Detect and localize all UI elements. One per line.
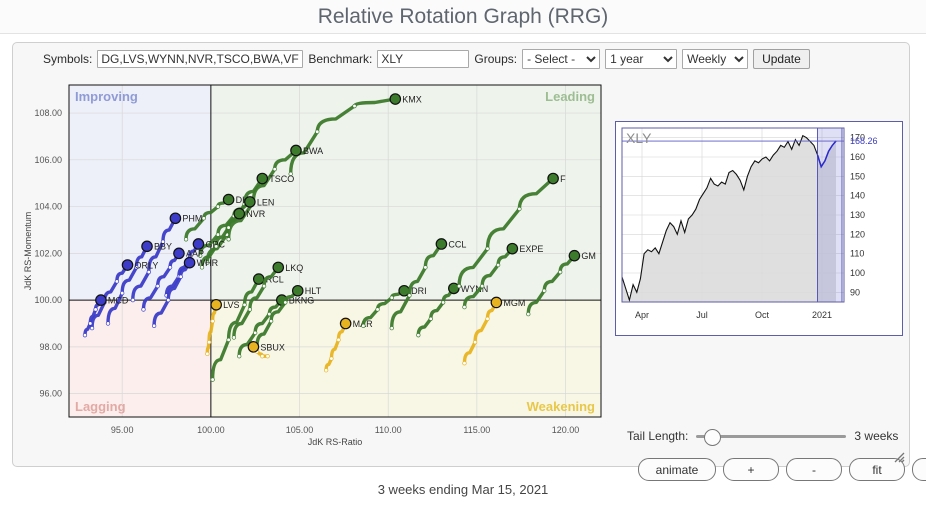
svg-text:Weakening: Weakening xyxy=(527,399,595,414)
action-buttons: animate + - fit ctr max xyxy=(638,458,926,481)
center-button[interactable]: ctr xyxy=(912,458,926,481)
svg-text:160: 160 xyxy=(850,152,865,162)
svg-text:130: 130 xyxy=(850,210,865,220)
update-button[interactable]: Update xyxy=(753,49,810,69)
svg-text:ORLY: ORLY xyxy=(135,260,159,270)
svg-text:F: F xyxy=(560,174,566,184)
svg-text:KMX: KMX xyxy=(402,94,422,104)
svg-text:168.26: 168.26 xyxy=(850,136,878,146)
svg-text:Oct: Oct xyxy=(755,310,770,320)
svg-text:Lagging: Lagging xyxy=(75,399,126,414)
svg-text:115.00: 115.00 xyxy=(463,425,490,435)
tail-length-value: 3 weeks xyxy=(854,429,898,443)
zoom-in-button[interactable]: + xyxy=(723,458,779,481)
svg-text:PHM: PHM xyxy=(182,214,202,224)
svg-text:XLY: XLY xyxy=(626,130,652,146)
svg-text:96.00: 96.00 xyxy=(39,389,62,399)
svg-text:Jul: Jul xyxy=(696,310,708,320)
svg-text:JdK RS-Ratio: JdK RS-Ratio xyxy=(308,437,363,447)
rrg-app: Relative Rotation Graph (RRG) Symbols: B… xyxy=(0,0,926,505)
svg-text:140: 140 xyxy=(850,191,865,201)
svg-text:LEN: LEN xyxy=(257,197,275,207)
resize-handle-icon[interactable] xyxy=(891,449,905,463)
svg-text:BBY: BBY xyxy=(154,242,172,252)
rrg-svg: ImprovingLeadingLaggingWeakening96.0098.… xyxy=(17,77,605,463)
footer-caption: 3 weeks ending Mar 15, 2021 xyxy=(0,482,926,497)
rrg-plot[interactable]: ImprovingLeadingLaggingWeakening96.0098.… xyxy=(17,77,605,463)
tail-length-label: Tail Length: xyxy=(627,429,688,443)
svg-text:110: 110 xyxy=(850,249,864,259)
benchmark-chart[interactable]: 17016015014013012011010090AprJulOct20211… xyxy=(615,121,903,336)
svg-text:EXPE: EXPE xyxy=(519,244,543,254)
groups-label: Groups: xyxy=(474,52,517,66)
tail-length-control: Tail Length: 3 weeks xyxy=(627,426,926,446)
svg-text:108.00: 108.00 xyxy=(34,108,62,118)
svg-text:MCD: MCD xyxy=(108,295,129,305)
groups-select[interactable]: - Select - xyxy=(522,49,600,69)
svg-text:102.00: 102.00 xyxy=(34,248,62,258)
svg-text:90: 90 xyxy=(850,287,860,297)
svg-text:MGM: MGM xyxy=(503,298,525,308)
svg-text:WHR: WHR xyxy=(197,258,219,268)
svg-text:BWA: BWA xyxy=(303,146,323,156)
animate-button[interactable]: animate xyxy=(638,458,716,481)
svg-text:98.00: 98.00 xyxy=(39,342,62,352)
tail-length-slider[interactable] xyxy=(696,429,846,443)
svg-text:95.00: 95.00 xyxy=(111,425,134,435)
svg-text:104.00: 104.00 xyxy=(34,202,62,212)
frequency-select[interactable]: Weekly xyxy=(682,49,748,69)
svg-text:100.00: 100.00 xyxy=(34,295,62,305)
svg-text:LKQ: LKQ xyxy=(285,263,303,273)
svg-text:NVR: NVR xyxy=(246,209,266,219)
svg-text:110.00: 110.00 xyxy=(375,425,402,435)
svg-text:GPC: GPC xyxy=(205,239,225,249)
symbols-label: Symbols: xyxy=(43,52,92,66)
svg-text:Apr: Apr xyxy=(635,310,649,320)
zoom-out-button[interactable]: - xyxy=(786,458,842,481)
svg-text:LVS: LVS xyxy=(223,300,239,310)
svg-text:SBUX: SBUX xyxy=(260,342,285,352)
benchmark-chart-svg: 17016015014013012011010090AprJulOct20211… xyxy=(616,122,902,335)
svg-text:106.00: 106.00 xyxy=(34,155,62,165)
svg-text:GM: GM xyxy=(581,251,596,261)
svg-text:100: 100 xyxy=(850,268,865,278)
benchmark-input[interactable] xyxy=(377,50,469,68)
svg-text:Improving: Improving xyxy=(75,89,138,104)
page-title: Relative Rotation Graph (RRG) xyxy=(0,0,926,34)
rrg-panel: Symbols: Benchmark: Groups: - Select - 1… xyxy=(12,42,910,467)
svg-text:DRI: DRI xyxy=(411,286,427,296)
benchmark-label: Benchmark: xyxy=(308,52,372,66)
svg-text:JdK RS-Momentum: JdK RS-Momentum xyxy=(23,212,33,291)
svg-text:TSCO: TSCO xyxy=(269,174,294,184)
svg-text:CCL: CCL xyxy=(448,239,466,249)
svg-text:100.00: 100.00 xyxy=(197,425,225,435)
symbols-input[interactable] xyxy=(97,50,303,68)
svg-text:HLT: HLT xyxy=(305,286,322,296)
svg-text:120: 120 xyxy=(850,229,865,239)
svg-text:120.00: 120.00 xyxy=(552,425,580,435)
svg-text:105.00: 105.00 xyxy=(286,425,314,435)
svg-text:Leading: Leading xyxy=(545,89,595,104)
slider-thumb[interactable] xyxy=(704,429,721,446)
svg-text:2021: 2021 xyxy=(812,310,832,320)
period-select[interactable]: 1 year xyxy=(605,49,677,69)
toolbar: Symbols: Benchmark: Groups: - Select - 1… xyxy=(13,43,911,75)
svg-text:150: 150 xyxy=(850,171,865,181)
